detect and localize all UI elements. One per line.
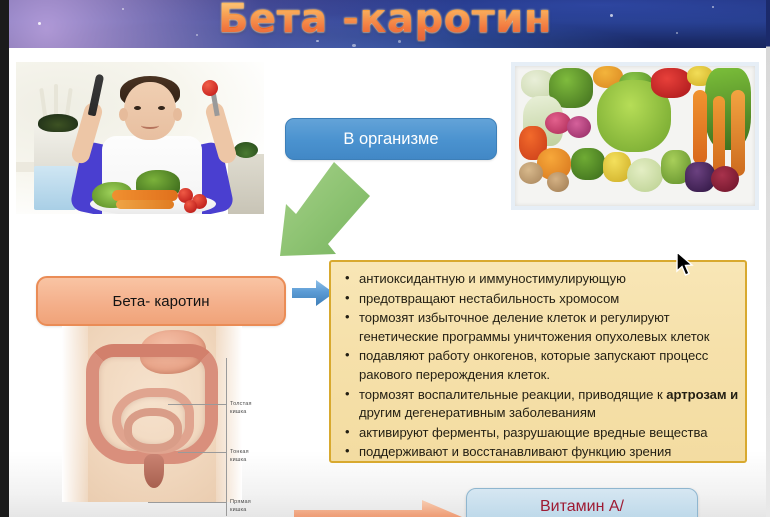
anatomy-rectum xyxy=(144,454,164,488)
veg-patty-squash xyxy=(627,158,663,192)
slide-body: В организме Бета- каротин xyxy=(0,48,770,517)
effects-list: антиоксидантную и иммуностимулирующую пр… xyxy=(341,270,739,462)
vitamin-a-retinol-label: Витамин А/ ретинол xyxy=(540,495,624,517)
veg-carrot xyxy=(713,96,725,174)
veg-mushroom xyxy=(519,162,543,184)
veg-broccoli xyxy=(571,148,605,180)
list-item-bold-text: артрозам и xyxy=(666,387,738,402)
anatomy-label-line: кишка xyxy=(230,408,252,416)
veg-carrot xyxy=(731,90,745,176)
anatomy-label-large-intestine: Толстая кишка xyxy=(230,400,252,416)
anatomy-leader-line xyxy=(178,452,226,453)
list-item-text: антиоксидантную и иммуностимулирующую xyxy=(359,271,626,286)
beta-carotene-effects-box: антиоксидантную и иммуностимулирующую пр… xyxy=(329,260,747,463)
anatomy-label-line: Тонкая xyxy=(230,448,249,456)
page-title: Бета -каротин xyxy=(0,0,770,42)
veg-carrot xyxy=(693,90,707,164)
beta-carotene-box[interactable]: Бета- каротин xyxy=(36,276,286,326)
photo-plant xyxy=(38,114,78,132)
digestive-tract-illustration xyxy=(62,326,242,502)
anatomy-small-intestine xyxy=(124,408,182,452)
anatomy-label-line: кишка xyxy=(230,456,249,464)
left-border-strip xyxy=(0,0,9,517)
anatomy-label-small-intestine: Тонкая кишка xyxy=(230,448,249,464)
blue-arrow xyxy=(292,279,334,307)
anatomy-label-line: Прямая xyxy=(230,498,251,506)
anatomy-label-line: Толстая xyxy=(230,400,252,408)
photo-right-plant xyxy=(234,142,258,158)
anatomy-body-edge xyxy=(62,326,88,502)
vitamin-label-line1: Витамин А/ xyxy=(540,495,624,517)
list-item: антиоксидантную и иммуностимулирующую xyxy=(359,270,739,289)
anatomy-label-rectum: Прямая кишка xyxy=(230,498,251,514)
veg-mushroom xyxy=(547,172,569,192)
beta-carotene-label: Бета- каротин xyxy=(112,293,209,310)
star-dot xyxy=(352,44,356,47)
photo-carrot xyxy=(116,200,174,209)
presentation-slide: Бета -каротин xyxy=(0,0,770,517)
assorted-vegetables-photo xyxy=(511,62,759,210)
right-border-strip xyxy=(766,0,770,517)
list-item-text: активируют ферменты, разрушающие вредные… xyxy=(359,425,707,440)
list-item: предотвращают нестабильность хромосом xyxy=(359,290,739,309)
list-item: поддерживают и восстанавливают функцию з… xyxy=(359,443,739,462)
in-organism-label: В организме xyxy=(343,130,438,149)
orange-arrow-right xyxy=(294,500,462,517)
photo-smile xyxy=(141,122,159,129)
vitamin-a-retinol-box[interactable]: Витамин А/ ретинол xyxy=(466,488,698,517)
photo-tray xyxy=(515,66,755,206)
photo-ear xyxy=(173,108,182,121)
in-organism-box[interactable]: В организме xyxy=(285,118,497,160)
list-item-text: предотвращают нестабильность хромосом xyxy=(359,291,619,306)
photo-tomato-on-fork xyxy=(202,80,218,96)
list-item-text: другим дегенеративным заболеваниям xyxy=(359,405,596,420)
list-item: тормозят воспалительные реакции, приводя… xyxy=(359,386,739,423)
anatomy-leader-line xyxy=(148,502,226,503)
list-item: тормозят избыточное деление клеток и рег… xyxy=(359,309,739,346)
anatomy-leader-spine xyxy=(226,358,227,516)
photo-right-box xyxy=(228,154,264,214)
veg-radish xyxy=(567,116,591,138)
anatomy-leader-line xyxy=(168,404,226,405)
list-item-text: тормозят избыточное деление клеток и рег… xyxy=(359,310,709,344)
list-item: подавляют работу онкогенов, которые запу… xyxy=(359,347,739,384)
photo-eye xyxy=(158,106,165,110)
photo-face xyxy=(124,82,176,140)
photo-eye xyxy=(134,106,141,110)
slide-title-band: Бета -каротин xyxy=(0,0,770,48)
list-item-text: поддерживают и восстанавливают функцию з… xyxy=(359,444,671,459)
photo-tomato xyxy=(184,200,197,213)
veg-beet xyxy=(711,166,739,192)
list-item: активируют ферменты, разрушающие вредные… xyxy=(359,424,739,443)
boy-eating-vegetables-photo xyxy=(16,62,264,214)
green-arrow xyxy=(272,156,378,268)
list-item-text: тормозят воспалительные реакции, приводя… xyxy=(359,387,666,402)
anatomy-label-line: кишка xyxy=(230,506,251,514)
list-item-text: подавляют работу онкогенов, которые запу… xyxy=(359,348,708,382)
veg-red-peppers xyxy=(651,68,691,98)
photo-blue-box xyxy=(34,166,76,210)
photo-ear xyxy=(119,108,128,121)
